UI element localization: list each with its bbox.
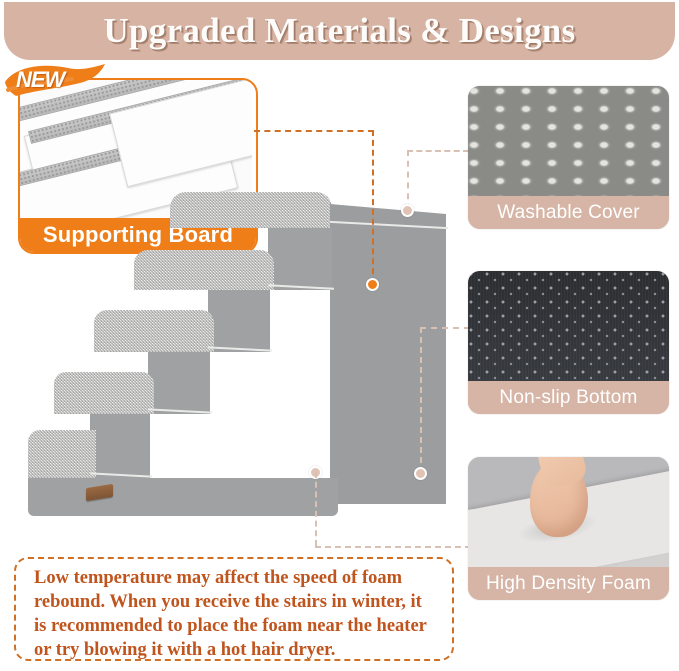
stair-base: [28, 478, 338, 516]
high-density-foam-photo: [468, 457, 669, 569]
washable-cover-label: Washable Cover: [468, 196, 669, 229]
non-slip-bottom-swatch: [468, 271, 669, 383]
hotspot-washable-cover[interactable]: [401, 204, 414, 217]
stair-riser-2: [90, 414, 150, 478]
page-title: Upgraded Materials & Designs: [4, 2, 675, 60]
stair-tread-3: [94, 310, 214, 352]
new-badge-label: NEW: [16, 67, 64, 93]
connector-washable-cover-h: [407, 150, 469, 152]
new-badge: NEW: [2, 60, 108, 102]
pet-stairs-product: [28, 186, 458, 536]
connector-washable-cover-v: [407, 150, 409, 210]
connector-non-slip-v: [420, 327, 422, 473]
stair-tread-1: [28, 430, 96, 478]
connector-supporting-board-h: [254, 130, 374, 132]
feature-panel-non-slip-bottom[interactable]: Non-slip Bottom: [468, 271, 669, 414]
stair-riser-3: [148, 352, 210, 414]
stair-side-panel: [330, 204, 446, 504]
infographic-canvas: Upgraded Materials & Designs Supporting …: [0, 0, 679, 671]
caution-note: Low temperature may affect the speed of …: [14, 557, 454, 661]
feature-panel-high-density-foam[interactable]: High Density Foam: [468, 457, 669, 600]
stair-riser-4: [208, 290, 270, 352]
stair-tread-5: [170, 192, 332, 228]
connector-foam-v: [315, 472, 317, 546]
feature-panel-washable-cover[interactable]: Washable Cover: [468, 86, 669, 229]
connector-supporting-board-v: [372, 130, 374, 284]
connector-non-slip-h: [420, 327, 470, 329]
stair-tread-4: [134, 250, 274, 290]
hotspot-non-slip-bottom[interactable]: [414, 467, 427, 480]
non-slip-bottom-label: Non-slip Bottom: [468, 381, 669, 414]
stair-riser-5: [268, 228, 332, 290]
connector-foam-h: [315, 546, 471, 548]
caution-text: Low temperature may affect the speed of …: [34, 566, 436, 662]
high-density-foam-label: High Density Foam: [468, 567, 669, 600]
header-banner: Upgraded Materials & Designs: [4, 2, 675, 60]
stair-tread-2: [54, 372, 154, 414]
washable-cover-swatch: [468, 86, 669, 198]
hotspot-supporting-board[interactable]: [366, 278, 379, 291]
